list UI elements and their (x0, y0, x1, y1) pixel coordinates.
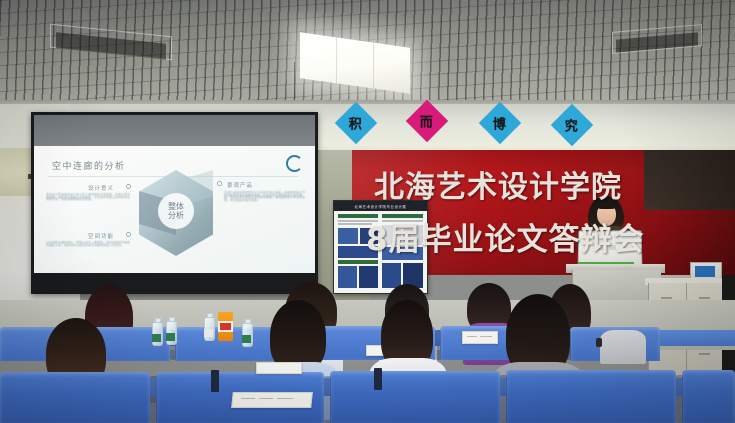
slide-bullet-dot-3 (217, 181, 222, 186)
paper-document-3[interactable] (231, 392, 313, 408)
slide-hexagon-diagram: 整体 分析 (139, 170, 213, 256)
front-desk-segment-5 (682, 370, 735, 423)
slide-paragraph-1: 本项目空中连廊的设计意义在于串联两栋主体建筑，形成立体交通系统，提升步行体验与空… (46, 193, 130, 227)
presentation-slide: 空中连廊的分析 设计意义 本项目空中连廊的设计意义在于串联两栋主体建筑，形成立体… (34, 146, 315, 273)
poster-image-9 (382, 263, 401, 288)
slide-bullet-dot-2 (126, 232, 131, 237)
water-bottle-2[interactable] (166, 317, 175, 345)
microphone-icon[interactable] (596, 338, 602, 347)
photo-scene: 积 而 博 究 北海艺术设计学院 8届毕业论文答辩会 空中连廊的分析 设计意义 … (0, 0, 735, 423)
slide-label-left-top: 设计意义 (88, 184, 114, 192)
slide-title: 空中连廊的分析 (52, 159, 126, 172)
banner-line-1: 北海艺术设计学院 (374, 162, 622, 206)
banner-shadow-area (644, 150, 735, 210)
slide-label-right-top: 景观产品 (227, 181, 253, 189)
front-desk-segment-1 (0, 372, 150, 423)
juice-box[interactable] (218, 312, 233, 341)
slide-bullet-dot-1 (126, 184, 131, 189)
banner-line-2: 8届毕业论文答辩会 (366, 214, 645, 259)
slide-paragraph-2: 空间功能上兼顾通行、休憩与观景三重属性，通过连续的界面变化组织人流，结合绿化与座… (46, 241, 130, 269)
poster-section-bar-2 (338, 260, 378, 264)
diamond-char-2: 而 (420, 111, 433, 130)
hexagon-label-line2: 分析 (168, 211, 184, 220)
arc-ring-logo-icon (286, 155, 303, 172)
water-bottle-4[interactable] (242, 319, 251, 347)
hexagon-label-line1: 整体 (168, 202, 184, 211)
poster-image-4 (338, 266, 357, 288)
water-bottle-1[interactable] (152, 318, 161, 346)
diamond-char-3: 博 (493, 113, 506, 132)
ceiling-rod (294, 62, 295, 102)
front-desk-segment-4 (506, 370, 676, 423)
desk-leg-2 (374, 368, 382, 390)
slide-paragraph-3: 景观产品结合本地材料与气候条件进行选型，采用耐候钢与木纹铝板形成温润的触感界面，… (224, 191, 306, 241)
diamond-char-1: 积 (349, 113, 362, 132)
paper-document-4[interactable] (256, 362, 302, 374)
screen-upper-blank (34, 115, 315, 146)
water-bottle-3[interactable] (204, 313, 213, 341)
projection-screen: 空中连廊的分析 设计意义 本项目空中连廊的设计意义在于串联两栋主体建筑，形成立体… (31, 112, 318, 294)
desk-leg-1 (211, 370, 219, 392)
front-desk-segment-3 (330, 371, 500, 423)
slide-label-left-bottom: 空间功能 (88, 232, 114, 240)
poster-image-5 (359, 266, 378, 288)
hexagon-center-label: 整体 分析 (158, 193, 194, 229)
paper-document-1[interactable] (462, 331, 498, 344)
diamond-char-4: 究 (565, 115, 578, 134)
poster-image-1 (338, 228, 358, 244)
